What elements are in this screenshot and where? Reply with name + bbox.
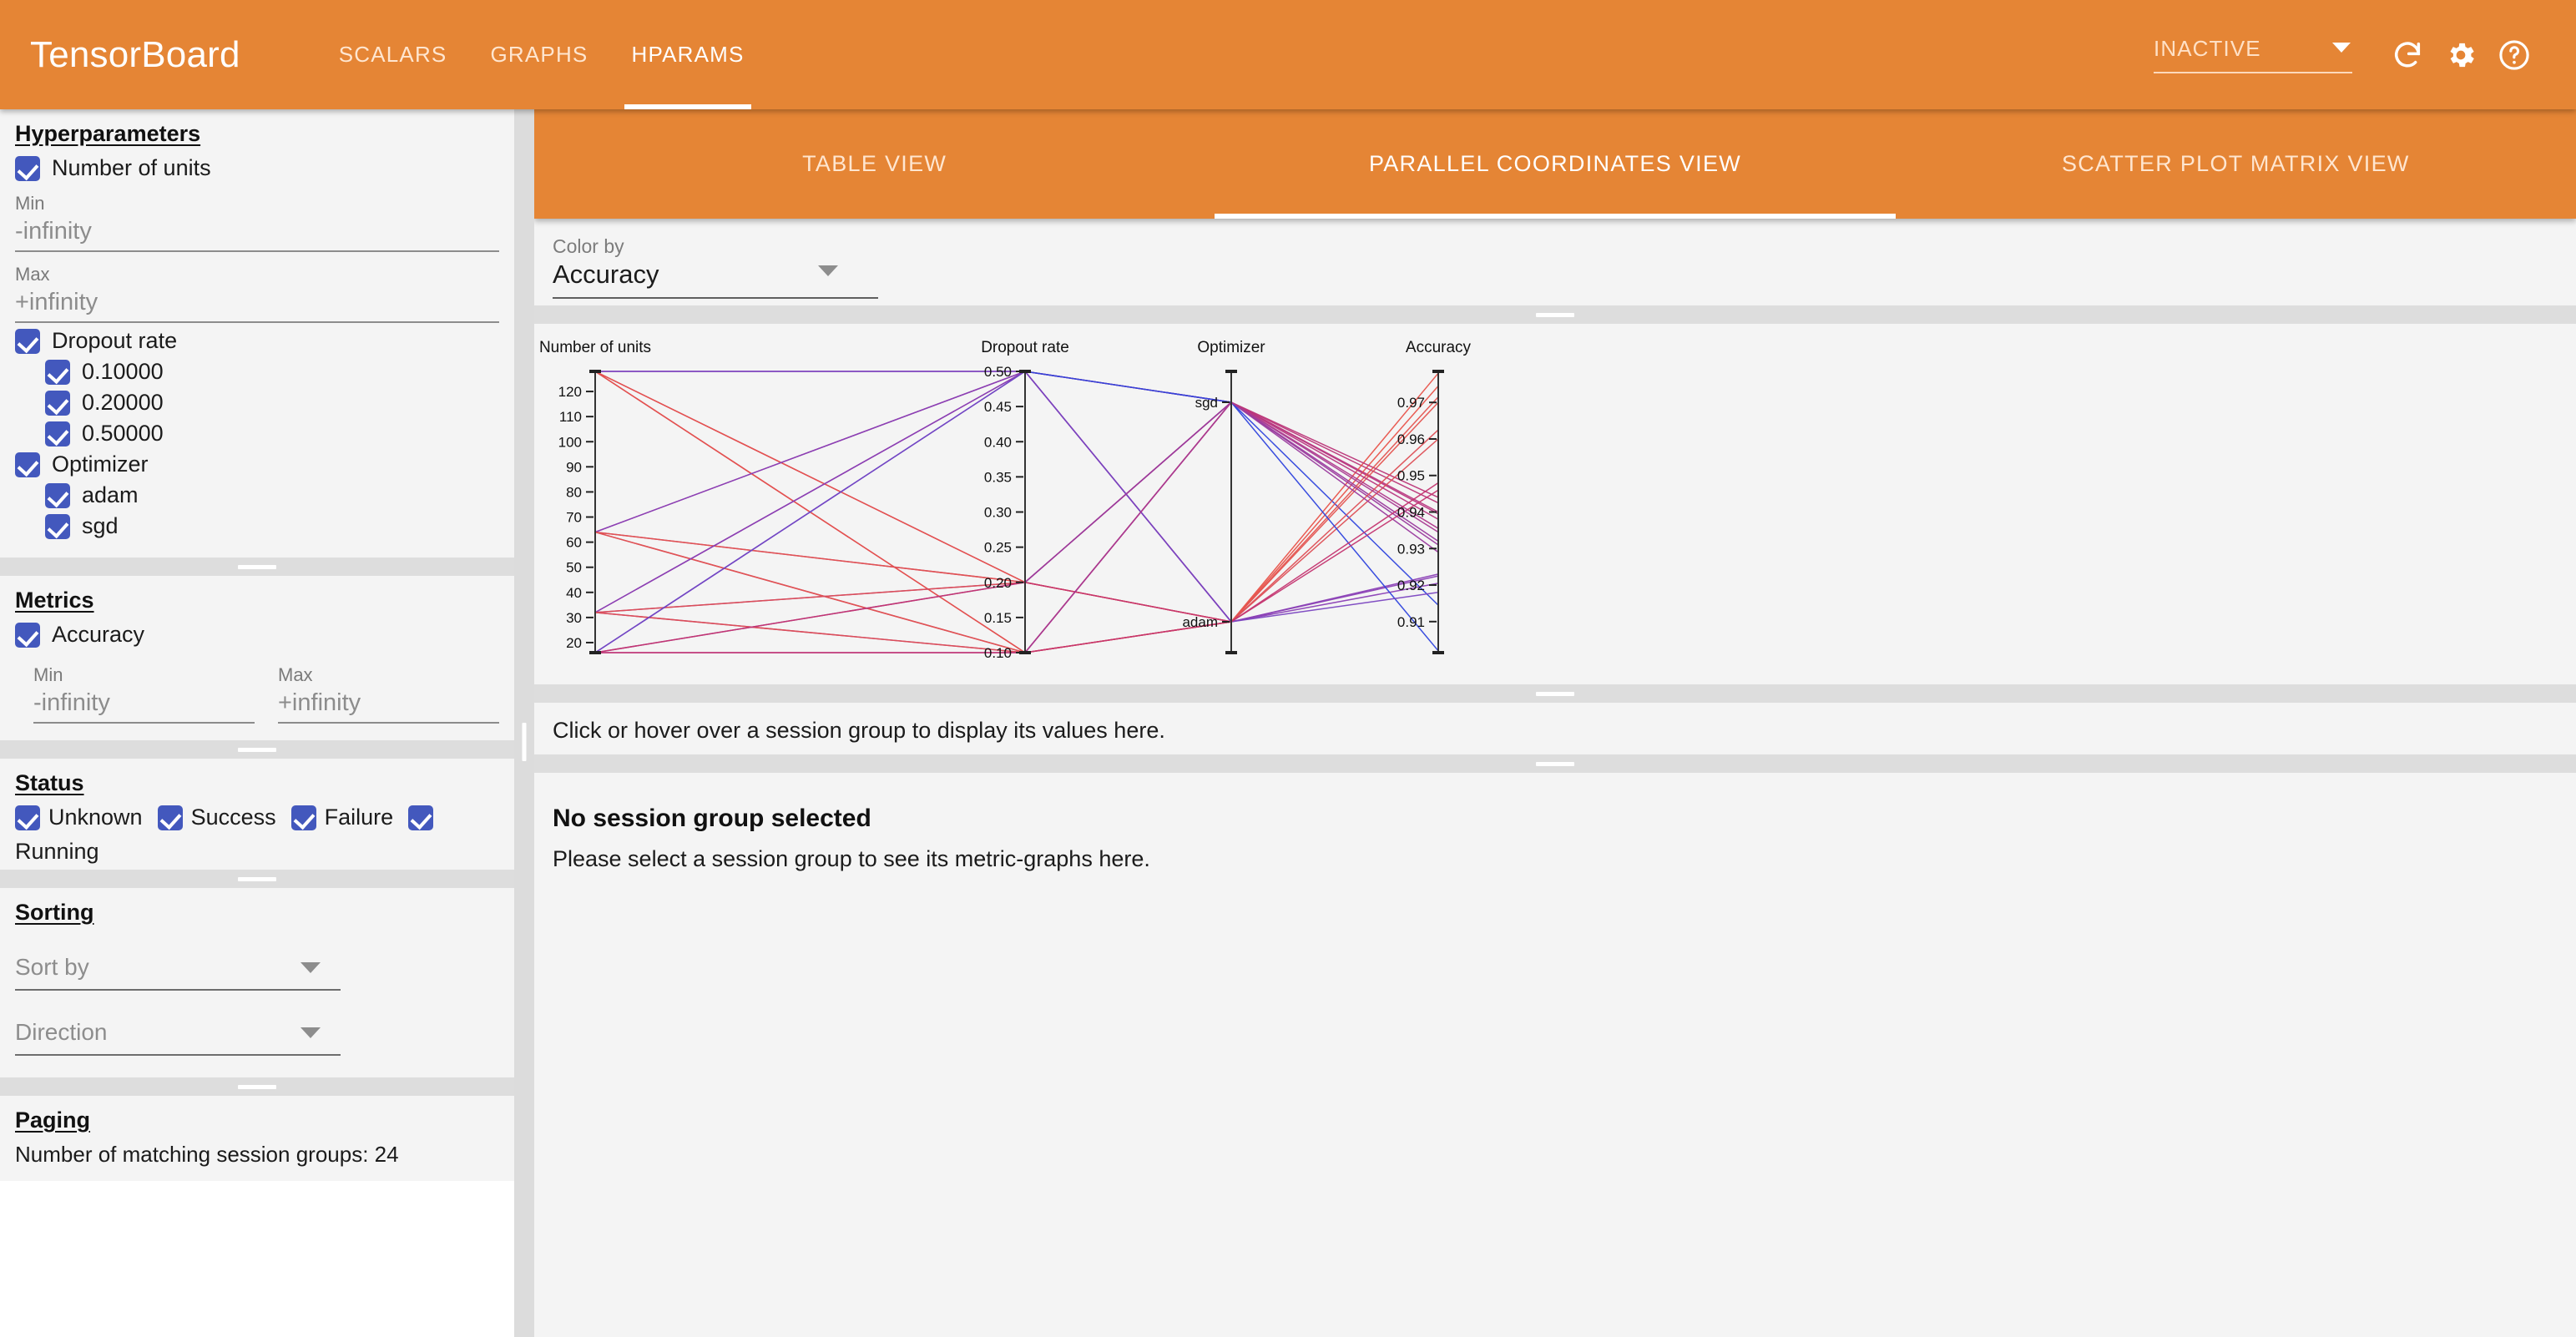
sidebar-section-metrics: Metrics Accuracy Min -infinity Max +infi… [0,576,514,740]
top-nav: SCALARS GRAPHS HPARAMS [317,0,766,109]
checkbox-checked-icon[interactable] [45,514,70,539]
select-underline [15,989,341,991]
pcp-tick-label: 20 [566,635,582,651]
sort-by-select[interactable]: Sort by [15,954,341,991]
select-underline [15,1054,341,1056]
pcp-line[interactable] [595,371,1438,613]
hparam-label: Optimizer [52,452,149,477]
checkbox-checked-icon[interactable] [15,805,40,830]
sidebar-divider-handle[interactable] [0,870,514,888]
sidebar-divider-handle[interactable] [0,558,514,576]
pcp-tick-label: 50 [566,560,582,576]
color-by-toolbar: Color by Accuracy [534,219,2576,305]
num-units-max-label: Max [15,264,499,285]
session-group-panel: No session group selected Please select … [534,773,2576,1041]
accuracy-max-field[interactable]: Max +infinity [278,664,499,724]
chevron-down-icon [301,962,321,973]
main-content: TABLE VIEW PARALLEL COORDINATES VIEW SCA… [534,109,2576,1337]
parallel-coordinates-svg[interactable]: Number of units2030405060708090100110120… [534,324,2576,684]
pcp-tick-label: 0.45 [984,399,1012,415]
hover-hint-text: Click or hover over a session group to d… [553,718,2576,744]
pcp-tick-label: 60 [566,535,582,551]
checkbox-checked-icon[interactable] [45,483,70,508]
dropout-value-option[interactable]: 0.50000 [45,421,499,447]
input-underline [278,722,499,724]
session-group-title: No session group selected [553,805,2576,833]
num-units-min-value: -infinity [15,218,499,250]
dropout-value-label: 0.20000 [82,390,164,416]
pcp-axis-title: Number of units [539,339,651,356]
pcp-line[interactable] [595,402,1438,583]
hparam-checkbox-optimizer[interactable]: Optimizer [15,452,499,477]
pcp-tick-label: 90 [566,459,582,475]
pcp-line[interactable] [595,402,1438,653]
header-actions: INACTIVE [2154,28,2541,82]
status-options: Unknown Success Failure Running [15,805,499,865]
hparam-checkbox-dropout-rate[interactable]: Dropout rate [15,328,499,354]
num-units-max-value: +infinity [15,289,499,321]
pcp-tick-label: 0.40 [984,434,1012,450]
paging-heading: Paging [15,1107,499,1133]
input-underline [15,250,499,252]
pcp-tick-label: 30 [566,610,582,626]
hyperparameters-heading: Hyperparameters [15,121,499,147]
direction-select[interactable]: Direction [15,1019,341,1056]
metric-label: Accuracy [52,622,144,648]
tab-parallel-coordinates-view[interactable]: PARALLEL COORDINATES VIEW [1215,109,1895,219]
optimizer-value-label: sgd [82,513,119,539]
status-label-success: Success [191,805,276,830]
metrics-heading: Metrics [15,588,499,613]
nav-tab-hparams[interactable]: HPARAMS [609,0,765,109]
refresh-icon[interactable] [2381,28,2434,82]
optimizer-value-label: adam [82,482,139,508]
pcp-axis-title: Accuracy [1406,339,1472,356]
help-icon[interactable] [2488,28,2541,82]
pcp-line[interactable] [595,490,1438,653]
sidebar-section-paging: Paging Number of matching session groups… [0,1096,514,1181]
panel-divider-handle-hover[interactable] [534,684,2576,703]
pcp-tick-label: 70 [566,510,582,526]
pcp-tick-label: 0.20 [984,575,1012,591]
input-underline [15,321,499,323]
hparam-label: Number of units [52,155,211,181]
checkbox-checked-icon[interactable] [158,805,183,830]
view-tabs: TABLE VIEW PARALLEL COORDINATES VIEW SCA… [534,109,2576,219]
panel-divider-handle-chart[interactable] [534,305,2576,324]
num-units-max-field[interactable]: Max +infinity [15,264,499,323]
checkbox-checked-icon[interactable] [45,391,70,416]
hover-values-panel: Click or hover over a session group to d… [534,703,2576,754]
sidebar: Hyperparameters Number of units Min -inf… [0,109,514,1337]
direction-value: Direction [15,1019,341,1054]
pcp-tick-label: sgd [1195,395,1218,411]
checkbox-checked-icon[interactable] [45,360,70,385]
tab-table-view[interactable]: TABLE VIEW [534,109,1215,219]
dropout-value-label: 0.50000 [82,421,164,447]
chevron-down-icon [818,265,838,276]
pcp-axis-title: Dropout rate [981,339,1069,356]
pcp-tick-label: 0.50 [984,364,1012,380]
status-label-failure: Failure [325,805,394,830]
sidebar-resize-handle[interactable] [514,109,534,1337]
pcp-tick-label: 80 [566,484,582,500]
sidebar-section-sorting: Sorting Sort by Direction [0,888,514,1077]
pcp-tick-label: 120 [558,384,582,400]
pcp-tick-label: 110 [559,409,582,425]
pcp-tick-label: 0.95 [1397,468,1425,484]
pcp-tick-label: 0.97 [1397,395,1425,411]
pcp-tick-label: adam [1182,614,1218,630]
pcp-tick-label: 0.96 [1397,431,1425,447]
checkbox-checked-icon[interactable] [15,452,40,477]
pcp-tick-label: 0.30 [984,505,1012,521]
input-underline [33,722,255,724]
sort-by-value: Sort by [15,954,341,989]
pcp-tick-label: 0.93 [1397,541,1425,557]
pcp-tick-label: 0.92 [1397,578,1425,593]
sidebar-section-hyperparameters: Hyperparameters Number of units Min -inf… [0,109,514,558]
accuracy-min-value: -infinity [33,689,255,722]
status-heading: Status [15,770,499,796]
color-by-select[interactable]: Color by Accuracy [553,235,878,299]
pcp-tick-label: 0.35 [984,469,1012,485]
chevron-down-icon [301,1027,321,1038]
pcp-tick-label: 0.94 [1397,505,1425,521]
checkbox-checked-icon[interactable] [15,156,40,181]
color-by-label: Color by [553,235,878,258]
num-units-min-label: Min [15,193,499,214]
optimizer-value-option[interactable]: adam [45,482,499,508]
app-brand: TensorBoard [30,34,240,76]
pcp-tick-label: 100 [558,434,582,450]
nav-tab-scalars[interactable]: SCALARS [317,0,469,109]
accuracy-max-label: Max [278,664,499,686]
tab-scatter-plot-matrix-view[interactable]: SCATTER PLOT MATRIX VIEW [1896,109,2576,219]
session-group-subtitle: Please select a session group to see its… [553,846,2576,872]
run-selector-value: INACTIVE [2154,36,2352,72]
checkbox-checked-icon[interactable] [291,805,316,830]
metric-range-fields: Min -infinity Max +infinity [33,653,499,727]
matching-session-groups-count: Number of matching session groups: 24 [15,1142,499,1168]
num-units-min-field[interactable]: Min -infinity [15,193,499,252]
pcp-tick-label: 40 [566,585,582,601]
sidebar-section-status: Status Unknown Success Failure Running [0,759,514,870]
pcp-tick-label: 0.25 [984,540,1012,556]
hparam-label: Dropout rate [52,328,177,354]
dropout-value-option[interactable]: 0.10000 [45,359,499,385]
sidebar-divider-handle[interactable] [0,1077,514,1096]
chevron-down-icon [2332,43,2351,53]
pcp-line[interactable] [595,371,1438,542]
sorting-heading: Sorting [15,900,499,926]
run-selector-underline [2154,72,2352,73]
checkbox-checked-icon[interactable] [15,623,40,648]
select-underline [553,297,878,299]
pcp-tick-label: 0.15 [984,610,1012,626]
checkbox-checked-icon[interactable] [408,805,433,830]
accuracy-min-label: Min [33,664,255,686]
accuracy-max-value: +infinity [278,689,499,722]
hparam-checkbox-number-of-units[interactable]: Number of units [15,155,499,181]
app-header: TensorBoard SCALARS GRAPHS HPARAMS INACT… [0,0,2576,109]
accuracy-min-field[interactable]: Min -infinity [33,664,255,724]
panel-divider-handle-session[interactable] [534,754,2576,773]
status-label-unknown: Unknown [48,805,143,830]
optimizer-value-option[interactable]: sgd [45,513,499,539]
dropout-value-label: 0.10000 [82,359,164,385]
nav-tab-graphs[interactable]: GRAPHS [468,0,609,109]
gear-icon[interactable] [2434,28,2488,82]
checkbox-checked-icon[interactable] [15,329,40,354]
pcp-tick-label: 0.91 [1397,614,1425,630]
pcp-tick-label: 0.10 [984,645,1012,661]
metric-checkbox-accuracy[interactable]: Accuracy [15,622,499,648]
parallel-coordinates-chart[interactable]: Number of units2030405060708090100110120… [534,324,2576,684]
pcp-axis-title: Optimizer [1197,339,1265,356]
status-label-running: Running [15,839,99,865]
sidebar-divider-handle[interactable] [0,740,514,759]
dropout-value-option[interactable]: 0.20000 [45,390,499,416]
checkbox-checked-icon[interactable] [45,421,70,447]
run-selector[interactable]: INACTIVE [2154,36,2352,73]
